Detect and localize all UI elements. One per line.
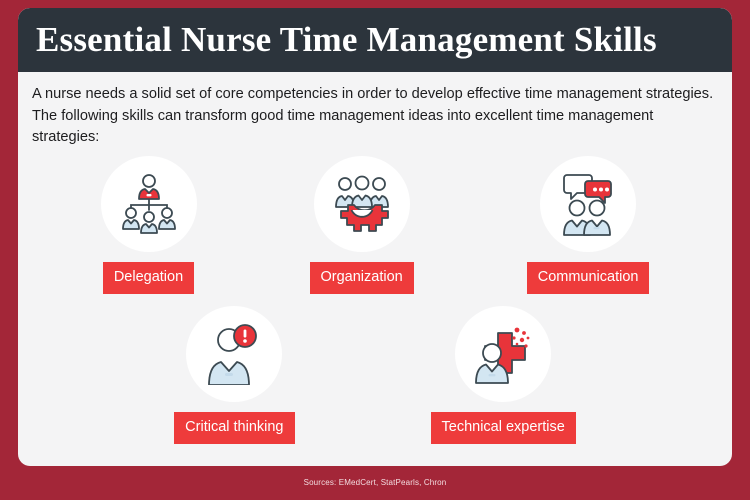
gear-people-icon [329,171,395,237]
page-title: Essential Nurse Time Management Skills [18,20,657,60]
icon-circle-organization [314,156,410,252]
sources-footer: Sources: EMedCert, StatPearls, Chron [0,478,750,487]
skill-label-critical-thinking: Critical thinking [174,412,294,444]
header-bar: Essential Nurse Time Management Skills [18,8,732,72]
icon-circle-delegation [101,156,197,252]
skill-label-organization: Organization [310,262,414,294]
icon-circle-communication [540,156,636,252]
skill-communication[interactable]: Communication [527,156,650,294]
person-medical-cross-icon [470,321,536,387]
skill-technical-expertise[interactable]: Technical expertise [431,306,576,444]
skill-label-technical-expertise: Technical expertise [431,412,576,444]
skill-organization[interactable]: Organization [310,156,414,294]
infographic-card: Essential Nurse Time Management Skills A… [18,8,732,466]
skill-critical-thinking[interactable]: Critical thinking [174,306,294,444]
intro-paragraph: A nurse needs a solid set of core compet… [32,84,722,149]
person-alert-icon [203,323,265,385]
skills-row-bottom: Critical thinking [18,306,732,444]
org-chart-people-icon [117,172,181,236]
people-speech-bubbles-icon [555,171,621,237]
skill-label-delegation: Delegation [103,262,194,294]
icon-circle-technical-expertise [455,306,551,402]
skill-delegation[interactable]: Delegation [101,156,197,294]
skill-label-communication: Communication [527,262,650,294]
skills-row-top: Delegation Organization [18,156,732,294]
icon-circle-critical-thinking [186,306,282,402]
